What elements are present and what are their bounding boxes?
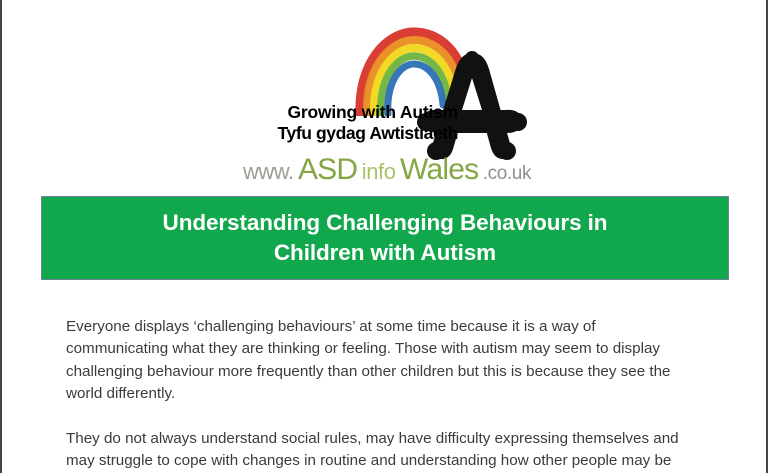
url-part-tld: .co.uk [483,163,531,184]
page-title-line-2: Children with Autism [274,238,496,268]
document-body: Everyone displays ‘challenging behaviour… [66,316,688,473]
page-title-line-1: Understanding Challenging Behaviours in [163,208,608,238]
logo-inner: Growing with Autism Tyfu gydag Awtistiae… [240,22,540,192]
logo-website-url: www. ASD info Wales .co.uk [237,155,537,185]
tagline-english: Growing with Autism [240,102,458,123]
url-part-wales: Wales [400,153,478,186]
asdinfowales-logo: Growing with Autism Tyfu gydag Awtistiae… [2,22,766,194]
tagline-welsh: Tyfu gydag Awtistiaeth [240,123,458,144]
url-part-info: info [362,159,396,184]
body-paragraph-1: Everyone displays ‘challenging behaviour… [66,316,688,406]
url-part-asd: ASD [298,153,357,186]
document-title-banner: Understanding Challenging Behaviours in … [41,196,729,280]
document-page: Growing with Autism Tyfu gydag Awtistiae… [0,0,768,473]
logo-tagline: Growing with Autism Tyfu gydag Awtistiae… [240,102,458,144]
body-paragraph-2: They do not always understand social rul… [66,428,688,473]
url-part-www: www. [243,159,294,184]
